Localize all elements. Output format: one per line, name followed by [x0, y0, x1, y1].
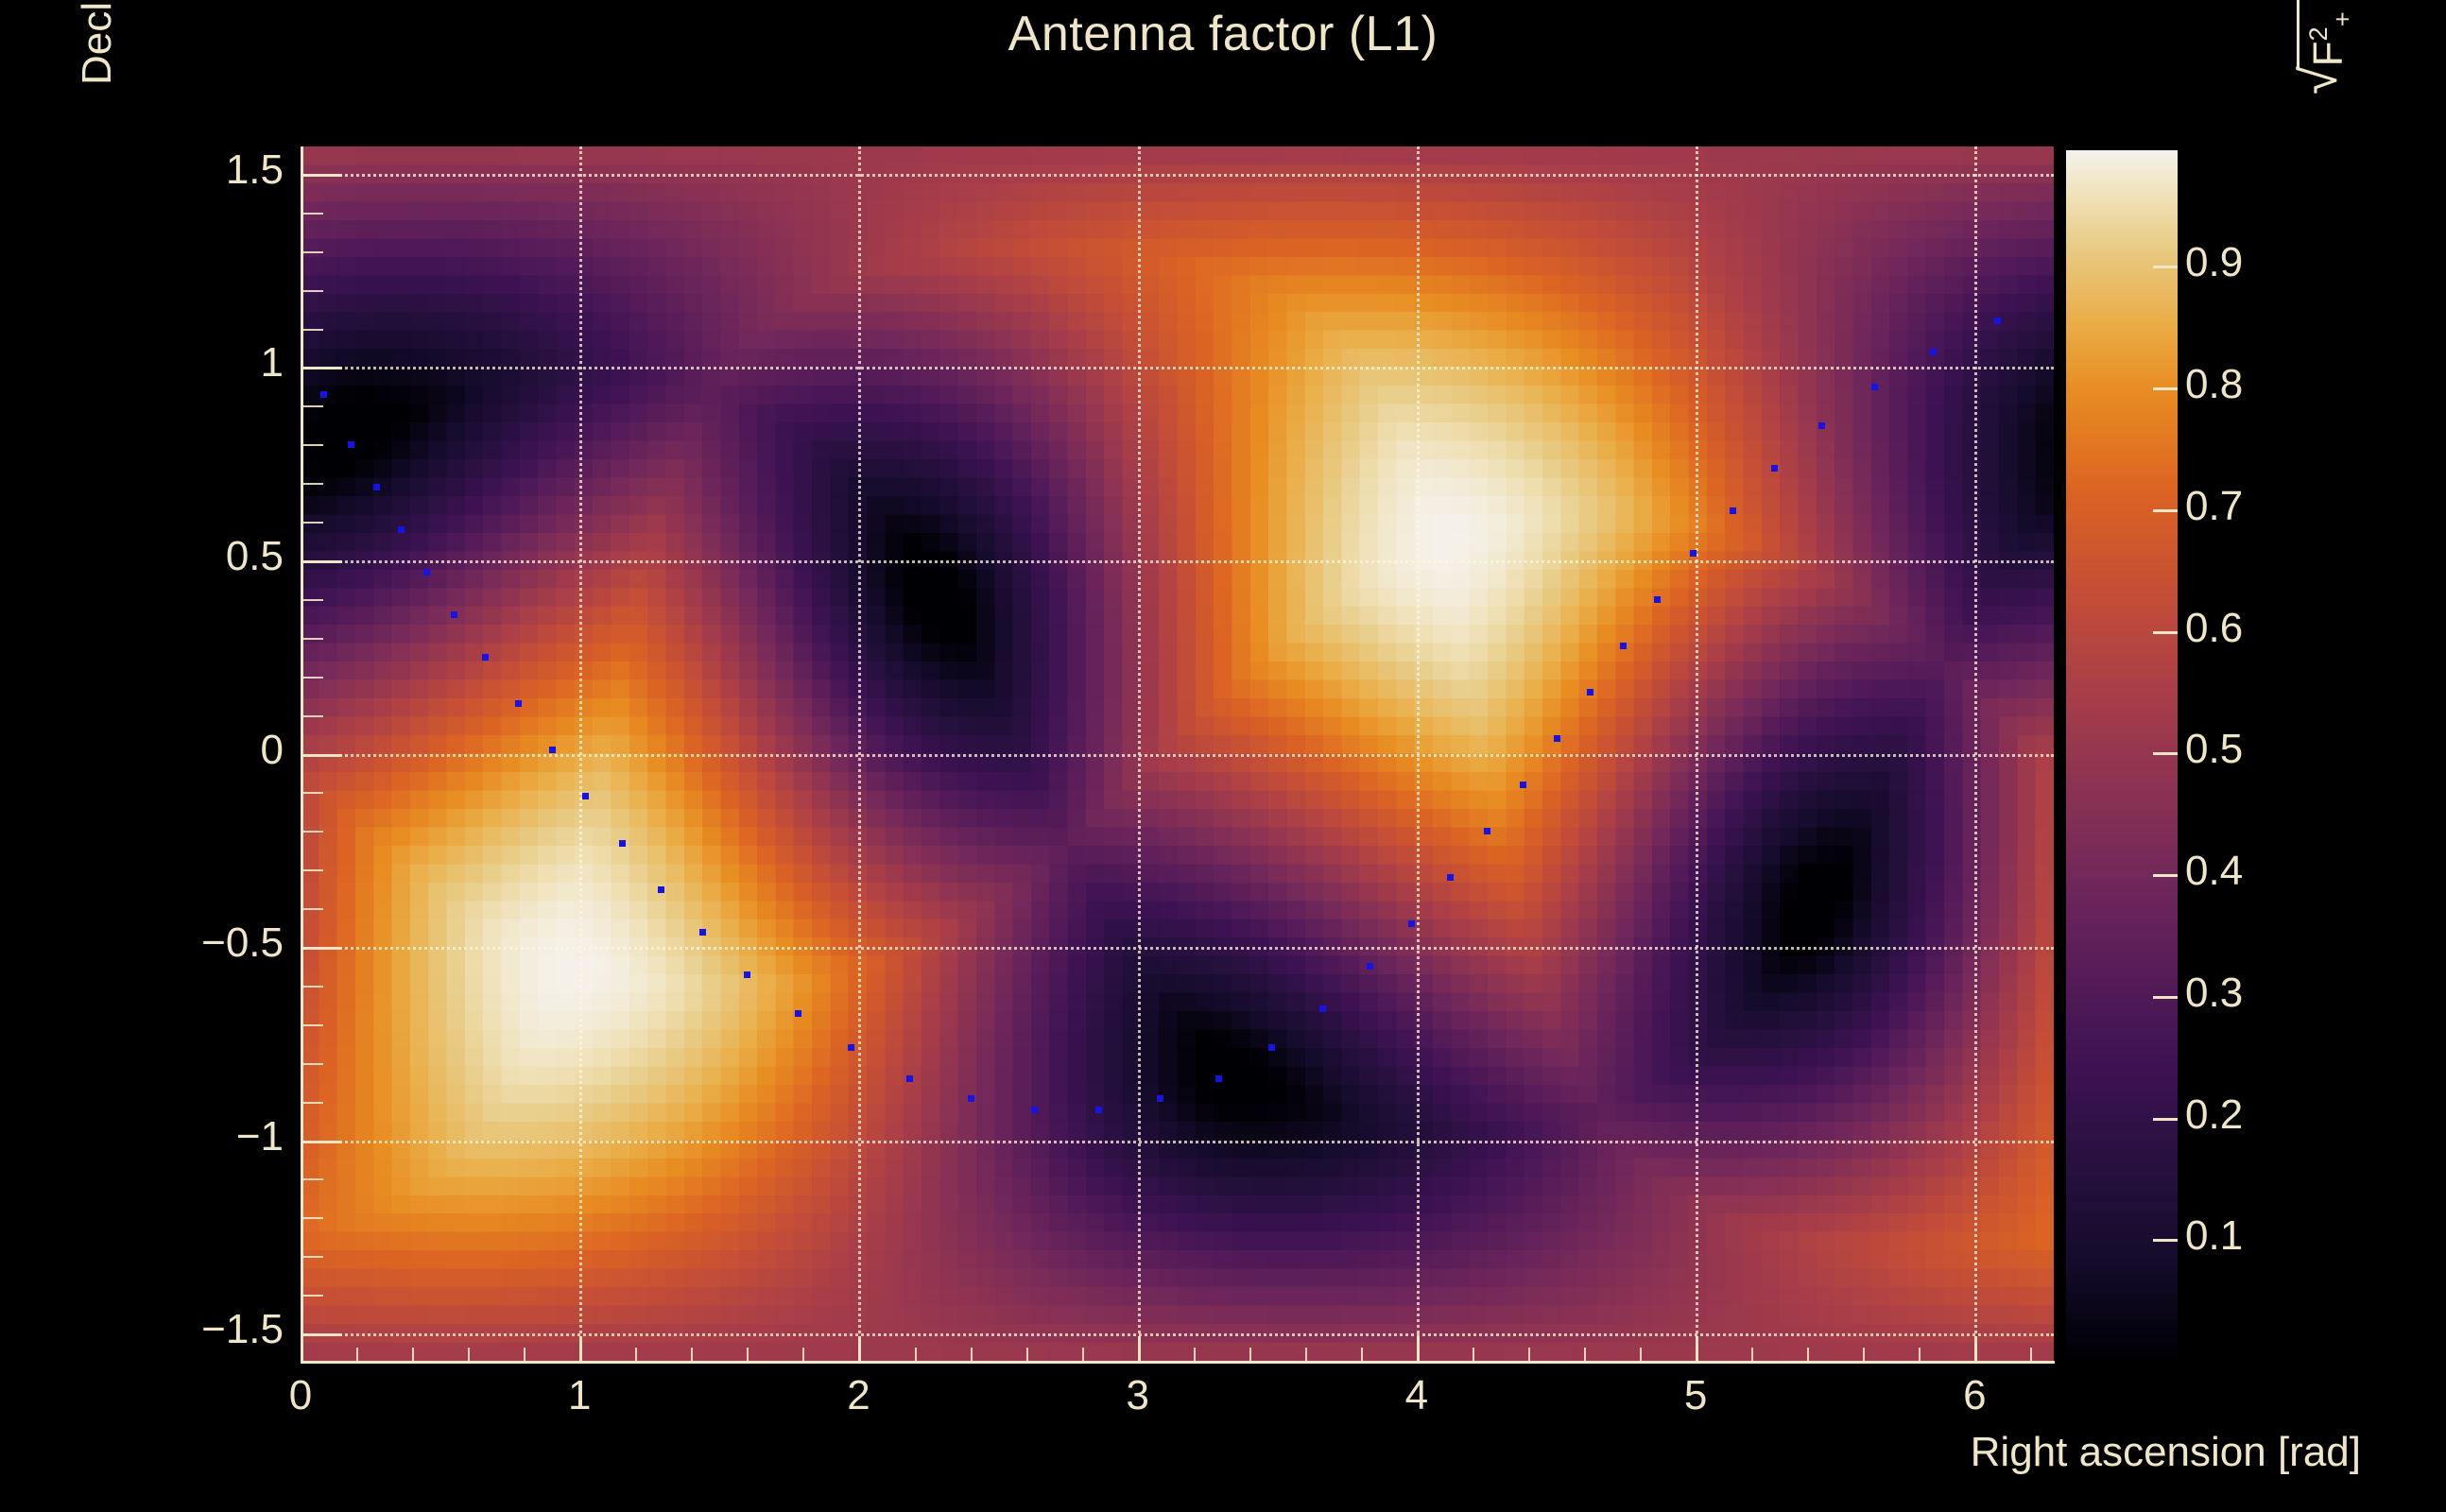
heatmap-image	[301, 146, 2054, 1361]
x-axis-minor-tick	[691, 1348, 693, 1361]
x-axis-minor-tick	[1305, 1348, 1307, 1361]
x-axis-tick	[301, 1336, 303, 1361]
x-axis-tick-label: 1	[523, 1372, 636, 1419]
y-axis-title: Declination [rad]	[74, 0, 121, 85]
galactic-plane-marker	[1818, 422, 1825, 429]
y-axis-tick	[301, 174, 342, 177]
x-axis-tick	[1696, 1336, 1698, 1361]
x-axis-minor-tick	[1640, 1348, 1642, 1361]
colorbar-tick	[2153, 996, 2178, 999]
colorbar-tick	[2153, 1118, 2178, 1121]
y-axis-tick	[301, 947, 342, 950]
galactic-plane-marker	[1654, 596, 1661, 603]
x-axis-minor-tick	[1194, 1348, 1196, 1361]
galactic-plane-marker	[1319, 1005, 1326, 1012]
galactic-plane-marker	[1215, 1075, 1222, 1082]
galactic-plane-marker	[1095, 1107, 1102, 1113]
y-axis-minor-tick	[301, 522, 323, 524]
x-axis-tick	[1417, 1336, 1420, 1361]
galactic-plane-marker	[1367, 963, 1373, 970]
y-axis-tick	[301, 1333, 342, 1336]
x-axis-tick-label: 3	[1081, 1372, 1195, 1419]
colorbar-tick-label: 0.1	[2185, 1212, 2243, 1262]
galactic-plane-marker	[795, 1010, 801, 1017]
colorbar-tick	[2153, 874, 2178, 877]
y-axis-minor-tick	[301, 908, 323, 910]
galactic-plane-marker	[1520, 782, 1526, 788]
galactic-plane-marker	[549, 747, 556, 753]
colorbar-tick	[2153, 266, 2178, 268]
y-axis-minor-tick	[301, 1256, 323, 1258]
galactic-plane-marker	[1994, 318, 2001, 324]
galactic-plane-marker	[848, 1044, 854, 1051]
y-axis-minor-tick	[301, 715, 323, 717]
galactic-plane-marker	[744, 971, 750, 978]
galactic-plane-marker	[1268, 1044, 1275, 1051]
y-axis-tick	[301, 754, 342, 757]
y-axis-minor-tick	[301, 638, 323, 640]
x-axis-minor-tick	[1751, 1348, 1753, 1361]
x-axis-minor-tick	[1473, 1348, 1474, 1361]
y-axis-minor-tick	[301, 599, 323, 601]
y-axis-tick-label: −1.5	[76, 1306, 284, 1357]
galactic-plane-marker	[1408, 920, 1415, 927]
galactic-plane-marker	[658, 886, 664, 893]
colorbar-tick	[2153, 631, 2178, 634]
y-axis-minor-tick	[301, 869, 323, 871]
galactic-plane-marker	[515, 700, 522, 707]
x-axis-minor-tick	[1528, 1348, 1530, 1361]
colorbar-tick	[2153, 387, 2178, 390]
plot-canvas: Antenna factor (L1) 01234561.510.50−0.5−…	[0, 0, 2446, 1512]
galactic-plane-marker	[320, 391, 327, 398]
y-axis-minor-tick	[301, 251, 323, 253]
antenna-factor-heatmap	[301, 146, 2054, 1361]
x-axis-minor-tick	[412, 1348, 414, 1361]
y-axis-minor-tick	[301, 483, 323, 485]
x-axis-title: Right ascension [rad]	[1971, 1429, 2361, 1476]
colorbar-tick	[2153, 1239, 2178, 1242]
x-axis-minor-tick	[1863, 1348, 1865, 1361]
x-axis-minor-tick	[915, 1348, 917, 1361]
colorbar-gradient	[2066, 150, 2178, 1361]
colorbar-tick-label: 0.5	[2185, 726, 2243, 775]
x-axis-minor-tick	[468, 1348, 470, 1361]
galactic-plane-marker	[451, 611, 457, 618]
galactic-plane-marker	[482, 654, 489, 661]
galactic-plane-marker	[348, 441, 354, 448]
galactic-plane-marker	[968, 1095, 974, 1102]
galactic-plane-marker	[1771, 465, 1778, 472]
y-axis-minor-tick	[301, 405, 323, 407]
galactic-plane-marker	[1031, 1107, 1038, 1113]
x-axis-minor-tick	[971, 1348, 973, 1361]
x-axis-tick	[858, 1336, 861, 1361]
y-axis-tick	[301, 1141, 342, 1143]
y-axis-minor-tick	[301, 1063, 323, 1065]
galactic-plane-marker	[398, 526, 405, 533]
x-axis-minor-tick	[1919, 1348, 1921, 1361]
y-axis-tick-label: −1	[76, 1113, 284, 1164]
colorbar	[2066, 150, 2178, 1361]
galactic-plane-marker	[1157, 1095, 1163, 1102]
x-axis-minor-tick	[1584, 1348, 1586, 1361]
x-axis-minor-tick	[524, 1348, 525, 1361]
galactic-plane-marker	[1930, 349, 1937, 355]
y-axis-minor-tick	[301, 213, 323, 215]
y-axis-minor-tick	[301, 1295, 323, 1297]
colorbar-tick-label: 0.3	[2185, 970, 2243, 1019]
galactic-plane-marker	[1447, 874, 1454, 881]
y-axis-minor-tick	[301, 1024, 323, 1026]
y-axis-minor-tick	[301, 444, 323, 446]
y-axis-title-wrap: Declination [rad]	[83, 85, 140, 747]
x-axis-minor-tick	[2030, 1348, 2032, 1361]
x-axis-minor-tick	[802, 1348, 804, 1361]
x-axis-tick-label: 5	[1639, 1372, 1752, 1419]
y-axis-minor-tick	[301, 1217, 323, 1219]
y-axis-minor-tick	[301, 1178, 323, 1180]
colorbar-tick	[2153, 509, 2178, 512]
colorbar-tick	[2153, 752, 2178, 755]
galactic-plane-marker	[1587, 689, 1593, 696]
x-axis-tick	[1974, 1336, 1977, 1361]
y-axis-tick-label: −0.5	[76, 919, 284, 971]
x-axis-minor-tick	[1249, 1348, 1251, 1361]
galactic-plane-marker	[1730, 507, 1736, 514]
x-axis-minor-tick	[356, 1348, 358, 1361]
page-title: Antenna factor (L1)	[0, 6, 2446, 62]
galactic-plane-marker	[1871, 384, 1878, 390]
colorbar-title: √F2+ + F2x	[2297, 0, 2357, 94]
x-axis-minor-tick	[1026, 1348, 1028, 1361]
y-axis-minor-tick	[301, 792, 323, 794]
x-axis-minor-tick	[747, 1348, 749, 1361]
colorbar-tick-label: 0.8	[2185, 361, 2243, 410]
x-axis-minor-tick	[1361, 1348, 1363, 1361]
galactic-plane-marker	[1690, 550, 1697, 557]
galactic-plane-marker	[582, 793, 589, 799]
x-axis-tick-label: 6	[1918, 1372, 2031, 1419]
y-axis-minor-tick	[301, 290, 323, 292]
galactic-plane-marker	[423, 569, 430, 576]
y-axis-minor-tick	[301, 1102, 323, 1104]
galactic-plane-marker	[619, 840, 626, 847]
x-axis-minor-tick	[635, 1348, 637, 1361]
x-axis-tick	[579, 1336, 582, 1361]
heatmap-plot-area	[301, 146, 2054, 1361]
colorbar-title-wrap: √F2+ + F2x	[2297, 94, 2410, 378]
colorbar-tick-label: 0.7	[2185, 483, 2243, 532]
x-axis-tick-label: 4	[1360, 1372, 1473, 1419]
x-axis-minor-tick	[1082, 1348, 1084, 1361]
x-axis-minor-tick	[1807, 1348, 1809, 1361]
y-axis-tick	[301, 367, 342, 369]
galactic-plane-marker	[1620, 643, 1627, 649]
colorbar-tick-label: 0.6	[2185, 605, 2243, 654]
galactic-plane-marker	[1484, 828, 1490, 834]
x-axis-tick-label: 0	[244, 1372, 357, 1419]
x-axis-line	[301, 1361, 2055, 1364]
y-axis-minor-tick	[301, 831, 323, 833]
y-axis-minor-tick	[301, 329, 323, 331]
galactic-plane-marker	[1554, 735, 1560, 742]
x-axis-tick-label: 2	[801, 1372, 915, 1419]
x-axis-tick	[1138, 1336, 1141, 1361]
galactic-plane-marker	[373, 484, 380, 490]
radical-icon: √	[2297, 66, 2357, 94]
galactic-plane-marker	[906, 1075, 913, 1082]
y-axis-tick	[301, 560, 342, 563]
y-axis-minor-tick	[301, 677, 323, 679]
galactic-plane-marker	[699, 929, 706, 936]
colorbar-tick-label: 0.9	[2185, 239, 2243, 288]
colorbar-tick-label: 0.4	[2185, 848, 2243, 897]
y-axis-minor-tick	[301, 986, 323, 988]
colorbar-tick-label: 0.2	[2185, 1091, 2243, 1141]
